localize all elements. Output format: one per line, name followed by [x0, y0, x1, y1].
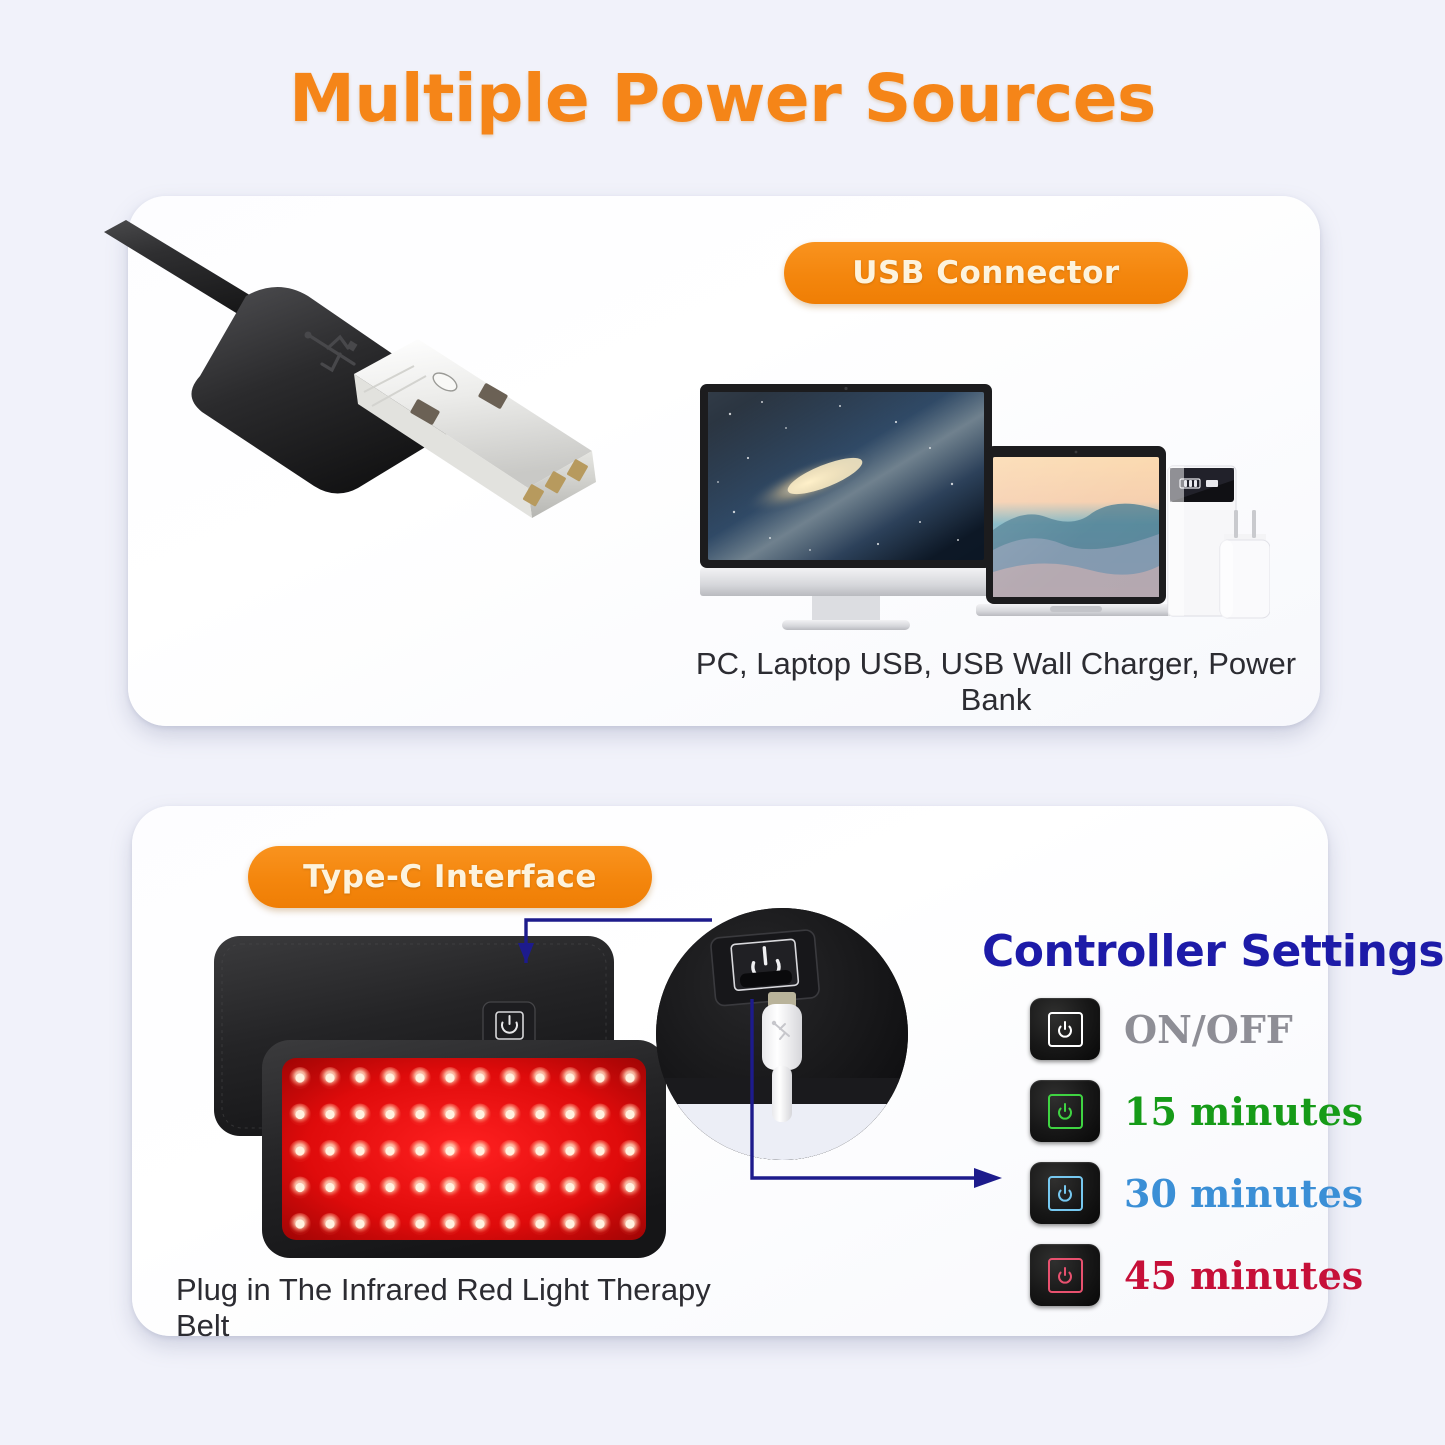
controller-setting-label: 45 minutes	[1124, 1253, 1363, 1298]
controller-setting-row[interactable]: ON/OFF	[1030, 998, 1360, 1060]
usb-devices-caption: PC, Laptop USB, USB Wall Charger, Power …	[676, 646, 1316, 718]
controller-setting-label: 15 minutes	[1124, 1089, 1363, 1134]
controller-settings-title: Controller Settings	[982, 926, 1444, 977]
device-cluster	[690, 362, 1270, 630]
power-button-icon[interactable]	[1030, 1080, 1100, 1142]
usb-a-connector-icon	[96, 196, 696, 616]
controller-setting-row[interactable]: 30 minutes	[1030, 1162, 1360, 1224]
usb-connector-badge[interactable]: USB Connector	[784, 242, 1188, 304]
controller-setting-row[interactable]: 45 minutes	[1030, 1244, 1360, 1306]
infographic-root: Multiple Power Sources	[0, 0, 1445, 1445]
usb-c-port-closeup-icon	[656, 908, 908, 1160]
page-title: Multiple Power Sources	[0, 60, 1445, 137]
controller-setting-label: 30 minutes	[1124, 1171, 1363, 1216]
red-light-therapy-belt-icon	[186, 912, 706, 1272]
power-button-icon[interactable]	[1030, 998, 1100, 1060]
typec-interface-badge[interactable]: Type-C Interface	[248, 846, 652, 908]
therapy-belt-caption: Plug in The Infrared Red Light Therapy B…	[176, 1272, 736, 1344]
power-button-icon[interactable]	[1030, 1244, 1100, 1306]
power-button-icon[interactable]	[1030, 1162, 1100, 1224]
controller-setting-label: ON/OFF	[1124, 1007, 1293, 1052]
controller-setting-row[interactable]: 15 minutes	[1030, 1080, 1360, 1142]
controller-settings-list: ON/OFF 15 minutes	[1030, 998, 1360, 1326]
